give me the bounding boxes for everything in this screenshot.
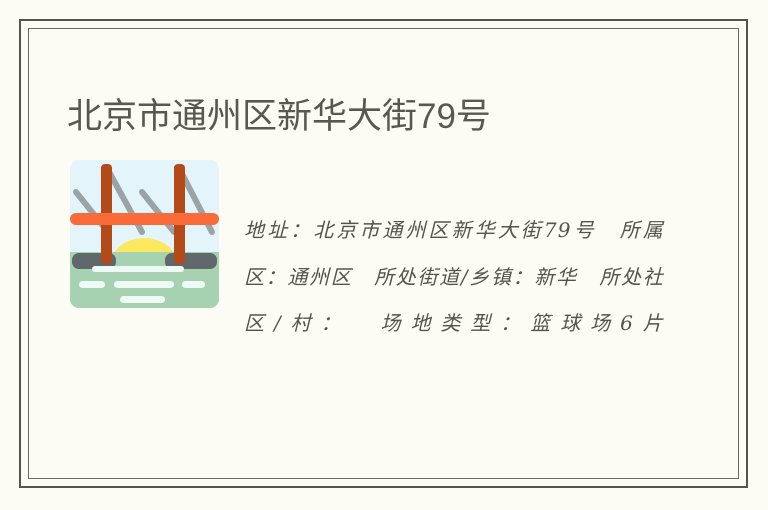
card-content: 北京市通州区新华大街79号	[29, 29, 738, 478]
bridge-deck	[70, 213, 219, 225]
bridge-icon	[70, 160, 219, 308]
suspension-bridge-illustration	[70, 160, 219, 308]
venue-details-text: 地址：北京市通州区新华大街79号 所属区：通州区 所处街道/乡镇：新华 所处社区…	[244, 207, 664, 347]
decorative-inner-frame: 北京市通州区新华大街79号	[28, 28, 739, 479]
page-title: 北京市通州区新华大街79号	[67, 94, 491, 139]
decorative-outer-frame: 北京市通州区新华大街79号	[19, 19, 748, 488]
page-root: 北京市通州区新华大街79号	[0, 0, 768, 510]
